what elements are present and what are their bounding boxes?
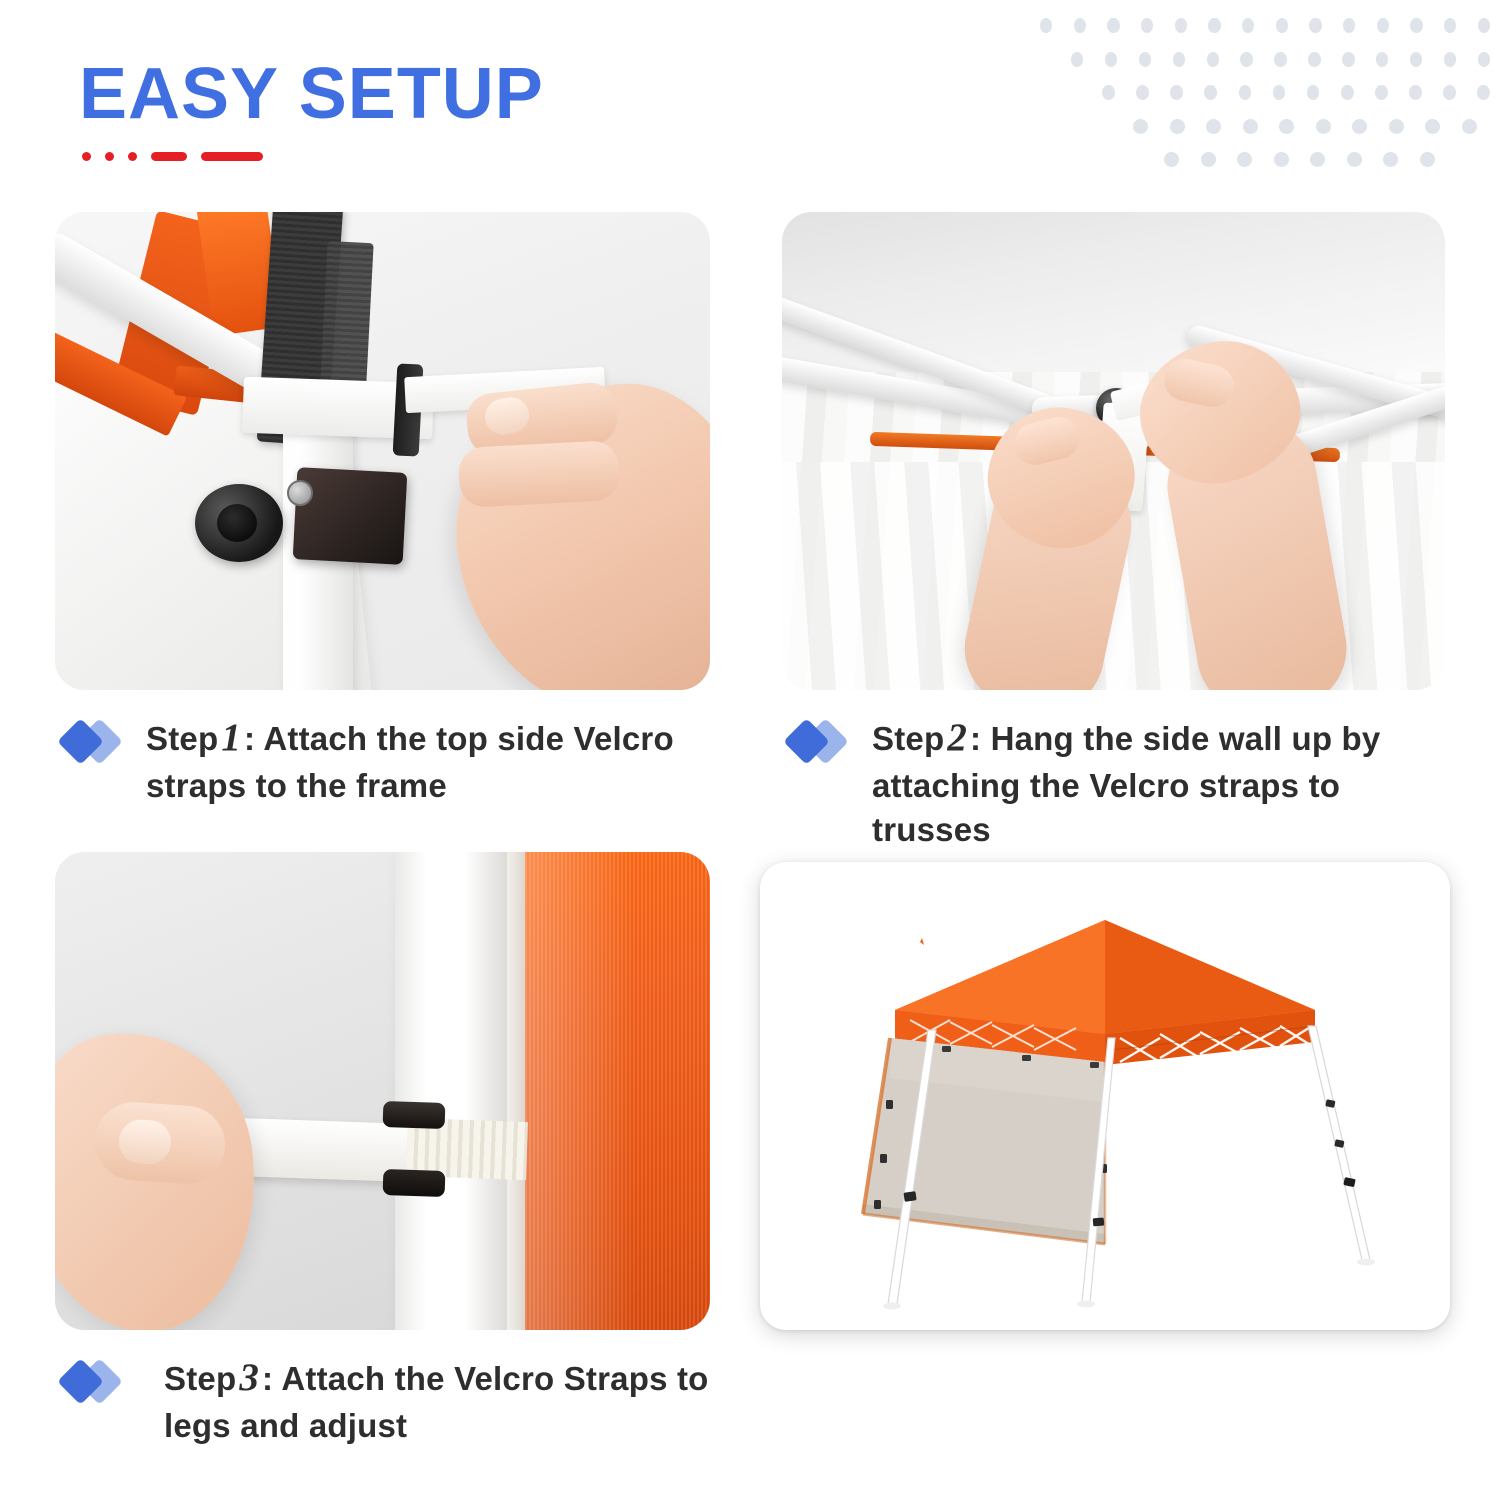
decor-dot — [1204, 85, 1217, 100]
decor-dot — [1410, 52, 1422, 67]
frame-screw — [287, 480, 313, 506]
step-3-caption-text: Step3: Attach the Velcro Straps to legs … — [146, 1352, 762, 1448]
decor-dot — [1425, 119, 1440, 134]
strap-clip-top — [383, 1101, 446, 1129]
frame-pivot-wheel — [195, 484, 283, 562]
decor-dot — [1074, 18, 1086, 33]
decor-dot — [1175, 18, 1187, 33]
step-1-separator: : — [244, 720, 255, 757]
decor-dot — [1309, 18, 1321, 33]
title-underline-accent — [82, 152, 263, 161]
decor-dot — [1410, 18, 1422, 33]
step-3-number: 3 — [236, 1356, 262, 1399]
diamond-bullet-icon — [62, 1360, 120, 1406]
step-1-photo — [55, 212, 710, 690]
leg-pole-edge — [507, 852, 525, 1330]
step-3-caption: Step3: Attach the Velcro Straps to legs … — [62, 1352, 762, 1448]
diamond-bullet-icon — [62, 720, 120, 766]
decor-dot — [1133, 119, 1148, 134]
decor-dot — [1477, 85, 1490, 100]
step-2-label: Step — [872, 720, 944, 757]
decor-dot — [1141, 18, 1153, 33]
decor-dot — [1444, 52, 1456, 67]
decor-dot — [1310, 152, 1325, 167]
step-1-caption: Step1: Attach the top side Velcro straps… — [62, 712, 722, 808]
rule-dot-2 — [105, 152, 114, 161]
decor-dot — [1105, 52, 1117, 67]
decor-dot — [1389, 119, 1404, 134]
dot-pattern-decoration — [1040, 18, 1490, 228]
decor-dot — [1383, 152, 1398, 167]
dot-row — [1164, 152, 1490, 167]
decor-dot — [1342, 52, 1354, 67]
step-2-caption: Step2: Hang the side wall up by attachin… — [788, 712, 1468, 852]
decor-dot — [1347, 152, 1362, 167]
step-2-separator: : — [970, 720, 981, 757]
step-1-label: Step — [146, 720, 218, 757]
step-2-caption-text: Step2: Hang the side wall up by attachin… — [872, 712, 1468, 852]
product-photo-card: EAGLE PEAK — [760, 862, 1450, 1330]
frame-clip-hardware — [293, 467, 408, 565]
brand-name: EAGLE PEAK — [885, 944, 950, 954]
step-2-photo — [782, 212, 1445, 690]
decor-dot — [1237, 152, 1252, 167]
decor-dot — [1444, 18, 1456, 33]
decor-dot — [1274, 152, 1289, 167]
decor-dot — [1242, 18, 1254, 33]
decor-dot — [1308, 52, 1320, 67]
decor-dot — [1071, 52, 1083, 67]
decor-dot — [1243, 119, 1258, 134]
page-title: EASY SETUP — [79, 58, 544, 130]
canopy-leg-pole — [395, 852, 507, 1330]
decor-dot — [1375, 85, 1388, 100]
canopy-illustration — [760, 862, 1450, 1330]
diamond-bullet-icon — [788, 720, 846, 766]
decor-dot — [1376, 52, 1388, 67]
dot-row — [1071, 52, 1490, 67]
step-3-separator: : — [262, 1360, 273, 1397]
decor-dot — [1420, 152, 1435, 167]
decor-dot — [1352, 119, 1367, 134]
decor-dot — [1201, 152, 1216, 167]
decor-dot — [1164, 152, 1179, 167]
decor-dot — [1102, 85, 1115, 100]
decor-dot — [1279, 119, 1294, 134]
step-3-photo — [55, 852, 710, 1330]
decor-dot — [1107, 18, 1119, 33]
rule-dash-2 — [201, 152, 263, 161]
decor-dot — [1040, 18, 1052, 33]
decor-dot — [1206, 119, 1221, 134]
rule-dot-1 — [82, 152, 91, 161]
decor-dot — [1307, 85, 1320, 100]
decor-dot — [1208, 18, 1220, 33]
decor-dot — [1276, 18, 1288, 33]
decor-dot — [1316, 119, 1331, 134]
decor-dot — [1443, 85, 1456, 100]
decor-dot — [1462, 119, 1477, 134]
decor-dot — [1173, 52, 1185, 67]
decor-dot — [1170, 85, 1183, 100]
step-3-label: Step — [164, 1360, 236, 1397]
decor-dot — [1478, 52, 1490, 67]
decor-dot — [1274, 52, 1286, 67]
rule-dot-3 — [128, 152, 137, 161]
infographic-page: EASY SETUP — [0, 0, 1500, 1500]
decor-dot — [1273, 85, 1286, 100]
dot-row — [1040, 18, 1490, 33]
decor-dot — [1136, 85, 1149, 100]
decor-dot — [1377, 18, 1389, 33]
orange-fabric-sheen — [525, 852, 635, 1330]
step-2-number: 2 — [944, 716, 970, 759]
decor-dot — [1341, 85, 1354, 100]
decor-dot — [1170, 119, 1185, 134]
finger-2 — [458, 440, 621, 508]
strap-clip-bottom — [383, 1169, 446, 1197]
brand-logo-box: EAGLE PEAK — [870, 936, 964, 962]
decor-dot — [1207, 52, 1219, 67]
decor-dot — [1139, 52, 1151, 67]
decor-dot — [1240, 52, 1252, 67]
dot-row — [1102, 85, 1490, 100]
step-1-number: 1 — [218, 716, 244, 759]
step-1-caption-text: Step1: Attach the top side Velcro straps… — [146, 712, 722, 808]
decor-dot — [1409, 85, 1422, 100]
decor-dot — [1343, 18, 1355, 33]
decor-dot — [1478, 18, 1490, 33]
decor-dot — [1239, 85, 1252, 100]
dot-row — [1133, 119, 1490, 134]
rule-dash-1 — [151, 152, 187, 161]
